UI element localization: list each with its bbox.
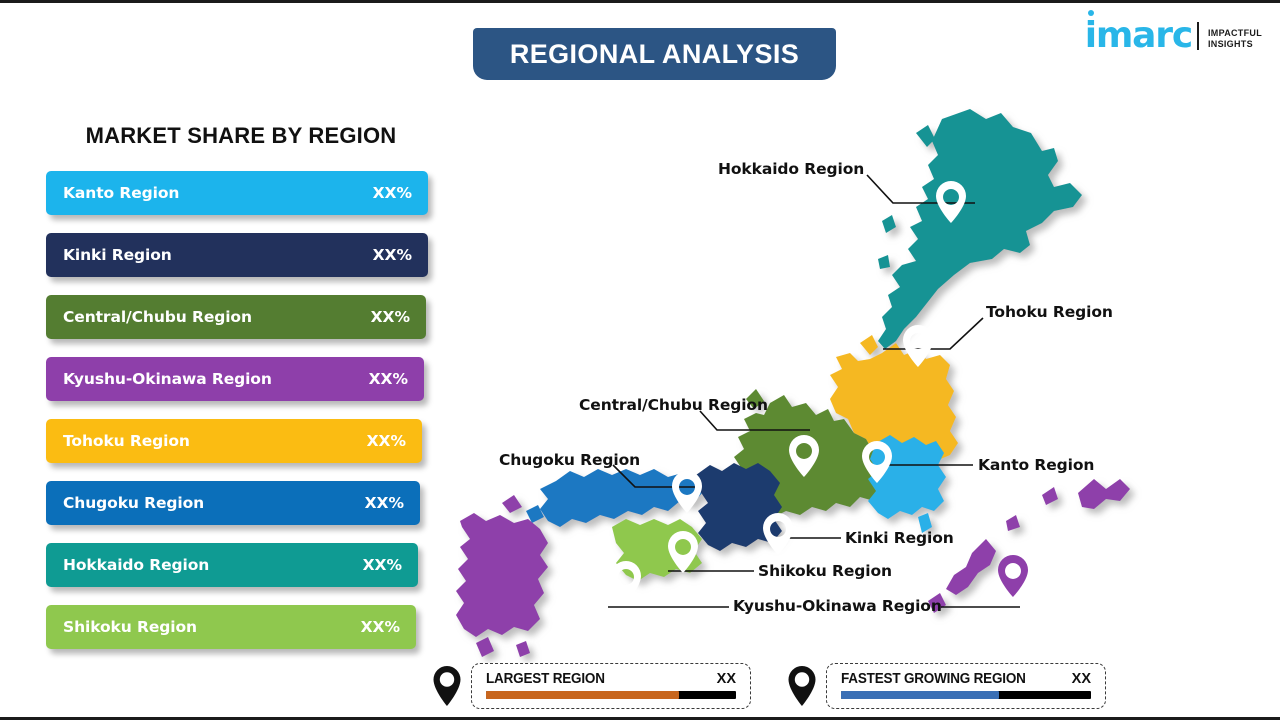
market-share-region-label: Hokkaido Region [63, 556, 209, 574]
map-label[interactable]: Tohoku Region [986, 303, 1113, 321]
largest-region-fill [486, 691, 679, 699]
slide-root: REGIONAL ANALYSIS imarc IMPACTFUL INSIGH… [0, 0, 1280, 720]
largest-region-callout[interactable]: LARGEST REGION XX [432, 663, 751, 709]
market-share-region-value: XX% [369, 370, 408, 388]
largest-region-label: LARGEST REGION [486, 671, 605, 687]
map-pin-icon [787, 665, 817, 707]
largest-region-head: LARGEST REGION XX [486, 671, 736, 687]
market-share-bar[interactable]: Chugoku RegionXX% [46, 481, 420, 525]
map-label[interactable]: Chugoku Region [499, 451, 640, 469]
map-label[interactable]: Kinki Region [845, 529, 954, 547]
map-label[interactable]: Kanto Region [978, 456, 1094, 474]
market-share-bar[interactable]: Kyushu-Okinawa RegionXX% [46, 357, 424, 401]
map-region-okinawa[interactable] [928, 479, 1130, 613]
market-share-bar[interactable]: Central/Chubu RegionXX% [46, 295, 426, 339]
market-share-region-label: Tohoku Region [63, 432, 190, 450]
pin-okinawa-icon [998, 555, 1028, 597]
summary-callouts: LARGEST REGION XX FASTEST GROWING REGION… [432, 663, 1106, 709]
market-share-region-label: Kyushu-Okinawa Region [63, 370, 272, 388]
market-share-region-label: Chugoku Region [63, 494, 204, 512]
market-share-region-label: Central/Chubu Region [63, 308, 252, 326]
map-label[interactable]: Central/Chubu Region [579, 396, 768, 414]
market-share-bar[interactable]: Shikoku RegionXX% [46, 605, 416, 649]
fastest-region-head: FASTEST GROWING REGION XX [841, 671, 1091, 687]
fastest-region-callout[interactable]: FASTEST GROWING REGION XX [787, 663, 1106, 709]
market-share-panel: MARKET SHARE BY REGION Kanto RegionXX%Ki… [46, 123, 436, 667]
fastest-region-value: XX [1072, 671, 1091, 687]
japan-region-map: Hokkaido RegionTohoku RegionCentral/Chub… [430, 103, 1280, 663]
imarc-wordmark: imarc [1085, 19, 1192, 53]
imarc-logo: imarc IMPACTFUL INSIGHTS [1085, 19, 1262, 53]
market-share-bar[interactable]: Kinki RegionXX% [46, 233, 428, 277]
market-share-bar[interactable]: Kanto RegionXX% [46, 171, 428, 215]
market-share-region-value: XX% [373, 184, 412, 202]
logo-tagline: IMPACTFUL INSIGHTS [1208, 28, 1262, 54]
map-pin-icon [432, 665, 462, 707]
largest-region-value: XX [717, 671, 736, 687]
largest-region-track [486, 691, 736, 699]
market-share-region-label: Shikoku Region [63, 618, 197, 636]
market-share-region-value: XX% [373, 246, 412, 264]
market-share-region-value: XX% [371, 308, 410, 326]
map-label[interactable]: Kyushu-Okinawa Region [733, 597, 942, 615]
pin-kyushu-icon [611, 561, 641, 603]
market-share-region-value: XX% [365, 494, 404, 512]
page-title: REGIONAL ANALYSIS [510, 39, 799, 70]
market-share-region-value: XX% [363, 556, 402, 574]
logo-tagline-line1: IMPACTFUL [1208, 28, 1262, 39]
logo-tagline-line2: INSIGHTS [1208, 39, 1262, 50]
market-share-region-label: Kanto Region [63, 184, 179, 202]
panel-heading: MARKET SHARE BY REGION [46, 123, 436, 149]
market-share-bar[interactable]: Hokkaido RegionXX% [46, 543, 418, 587]
fastest-region-track [841, 691, 1091, 699]
fastest-region-fill [841, 691, 999, 699]
page-title-banner: REGIONAL ANALYSIS [473, 28, 836, 80]
market-share-bar[interactable]: Tohoku RegionXX% [46, 419, 422, 463]
fastest-region-label: FASTEST GROWING REGION [841, 671, 1026, 687]
fastest-region-box: FASTEST GROWING REGION XX [826, 663, 1106, 709]
imarc-dot-icon [1088, 10, 1094, 16]
market-share-list: Kanto RegionXX%Kinki RegionXX%Central/Ch… [46, 171, 436, 649]
largest-region-box: LARGEST REGION XX [471, 663, 751, 709]
map-region-kanto[interactable] [868, 435, 946, 533]
market-share-region-value: XX% [361, 618, 400, 636]
imarc-wordmark-text: imarc [1085, 15, 1192, 56]
logo-divider [1197, 22, 1199, 50]
market-share-region-value: XX% [367, 432, 406, 450]
market-share-region-label: Kinki Region [63, 246, 172, 264]
map-label[interactable]: Shikoku Region [758, 562, 892, 580]
map-label[interactable]: Hokkaido Region [718, 160, 864, 178]
